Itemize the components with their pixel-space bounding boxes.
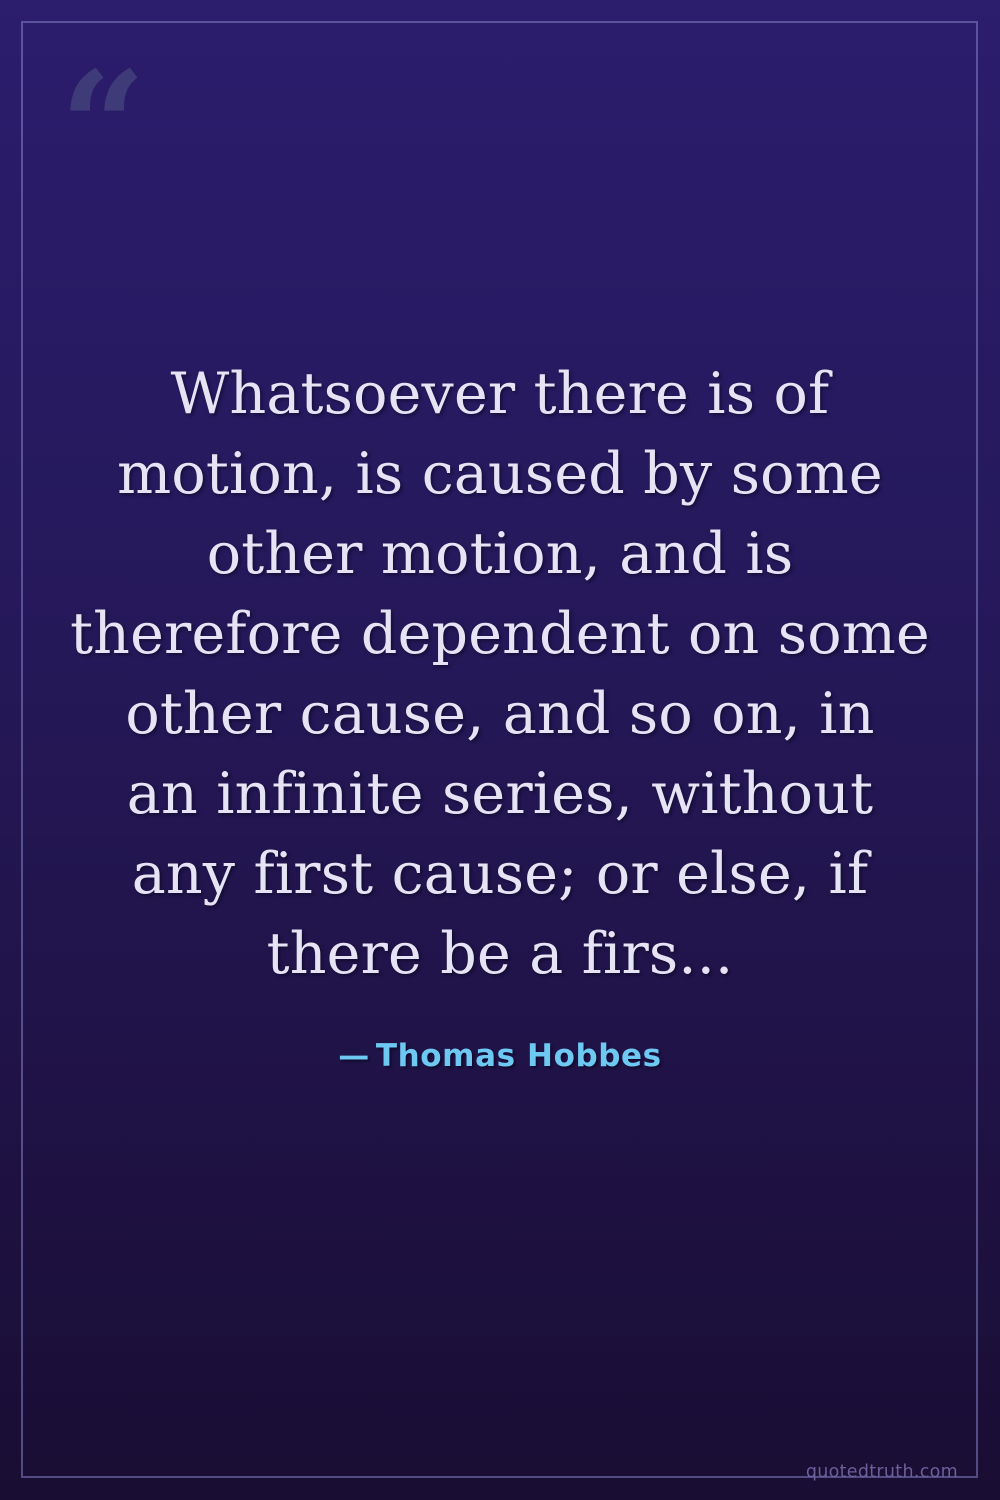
attribution-dash: — [338,1038,370,1074]
quote-line: motion, is caused by some [67,434,933,514]
quote-line: there be a firs... [67,914,933,994]
quote-line: any first cause; or else, if [67,834,933,914]
quote-block: Whatsoever there is of motion, is caused… [55,354,945,1074]
site-watermark: quotedtruth.com [806,1462,958,1482]
quote-line: an infinite series, without [67,754,933,834]
quote-line: other motion, and is [67,514,933,594]
poster-content: Whatsoever there is of motion, is caused… [0,0,1000,1500]
quote-line: other cause, and so on, in [67,674,933,754]
quote-attribution: —Thomas Hobbes [55,1038,945,1074]
attribution-author: Thomas Hobbes [376,1038,662,1074]
quote-line: Whatsoever there is of [67,354,933,434]
quote-line: therefore dependent on some [67,594,933,674]
quote-text: Whatsoever there is of motion, is caused… [55,354,945,994]
quote-poster: “ Whatsoever there is of motion, is caus… [0,0,1000,1500]
